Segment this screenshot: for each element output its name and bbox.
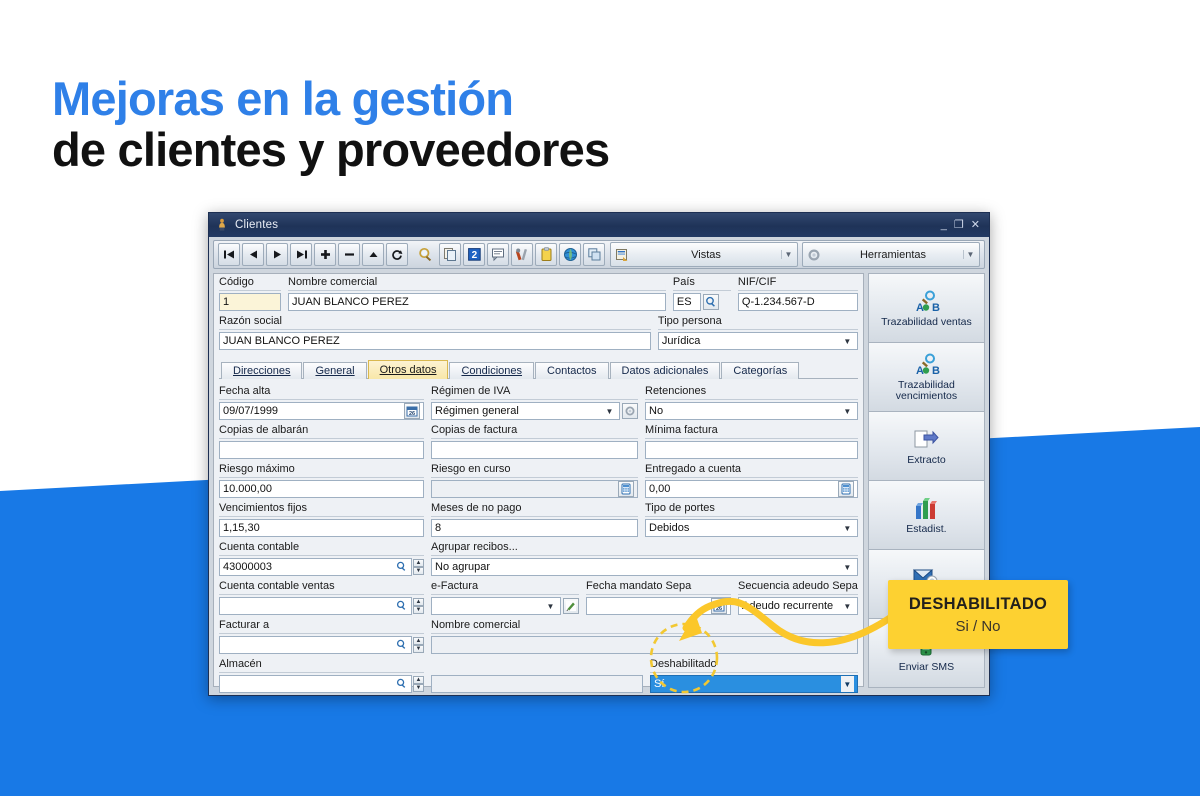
tab-condiciones-label: Condiciones (461, 365, 522, 377)
tools-icon[interactable] (511, 243, 533, 266)
field-meses-no-pago: Meses de no pago 8 (431, 502, 638, 537)
razon-social-label: Razón social (219, 315, 651, 330)
tab-condiciones[interactable]: Condiciones (449, 362, 534, 379)
copy-icon[interactable] (439, 243, 461, 266)
field-entregado-a-cuenta: Entregado a cuenta 0,00 (645, 463, 858, 498)
secuencia-adeudo-sepa-chevron-down-icon[interactable]: ▼ (841, 602, 854, 611)
tipo-portes-select[interactable]: Debidos ▼ (645, 519, 858, 537)
codigo-label: Código (219, 276, 281, 291)
stepper-down-icon[interactable]: ▼ (413, 567, 424, 575)
sidebar-item-trazabilidad-ventas[interactable]: A B Trazabilidad ventas (868, 273, 985, 343)
header-row-2: Razón social JUAN BLANCO PEREZ Tipo pers… (219, 315, 858, 354)
almacen-search-icon[interactable] (395, 678, 408, 691)
tab-general[interactable]: General (303, 362, 366, 379)
pais-label: País (673, 276, 731, 291)
client-form-panel: Código 1 Nombre comercial JUAN BLANCO PE… (213, 273, 864, 687)
fecha-alta-label: Fecha alta (219, 385, 424, 400)
person-icon (215, 218, 229, 232)
cuenta-contable-stepper[interactable]: ▲ ▼ (413, 559, 424, 575)
field-copias-albaran: Copias de albarán (219, 424, 424, 459)
regimen-iva-value: Régimen general (435, 405, 603, 417)
svg-text:A: A (916, 302, 924, 314)
svg-text:A: A (916, 365, 924, 377)
tab-direcciones-label: Direcciones (233, 365, 290, 377)
pais-value: ES (677, 296, 697, 308)
deshabilitado-callout: DESHABILITADO Si / No (888, 580, 1068, 649)
almacen-input[interactable] (219, 675, 412, 693)
refresh-record-button[interactable] (386, 243, 408, 266)
add-record-button[interactable] (314, 243, 336, 266)
field-cuenta-contable-ventas: Cuenta contable ventas ▲ ▼ (219, 580, 424, 615)
header-row-1: Código 1 Nombre comercial JUAN BLANCO PE… (219, 276, 858, 315)
cuenta-contable-ventas-input[interactable] (219, 597, 412, 615)
tab-general-label: General (315, 365, 354, 377)
od-row-4: Vencimientos fijos 1,15,30 Meses de no p… (219, 502, 858, 541)
entregado-a-cuenta-label: Entregado a cuenta (645, 463, 858, 478)
agrupar-recibos-select[interactable]: No agrupar ▼ (431, 558, 858, 576)
svg-text:2: 2 (471, 250, 477, 261)
sidebar-item-label: Trazabilidad ventas (879, 317, 974, 328)
herramientas-button[interactable]: Herramientas ▼ (802, 242, 980, 267)
retenciones-select[interactable]: No ▼ (645, 402, 858, 420)
regimen-iva-chevron-down-icon[interactable]: ▼ (603, 407, 616, 416)
field-regimen-iva: Régimen de IVA Régimen general ▼ (431, 385, 638, 420)
tab-contactos[interactable]: Contactos (535, 362, 609, 379)
regimen-iva-select[interactable]: Régimen general ▼ (431, 402, 620, 420)
nombre-comercial-input[interactable]: JUAN BLANCO PEREZ (288, 293, 666, 311)
cuenta-contable-ventas-label: Cuenta contable ventas (219, 580, 424, 595)
nombre-comercial-2-label: Nombre comercial (431, 619, 858, 634)
minima-factura-label: Mínima factura (645, 424, 858, 439)
next-record-button[interactable] (266, 243, 288, 266)
od-row-2: Copias de albarán Copias de factura Míni… (219, 424, 858, 463)
field-vencimientos-fijos: Vencimientos fijos 1,15,30 (219, 502, 424, 537)
callout-title: DESHABILITADO (909, 595, 1047, 614)
e-factura-chevron-down-icon[interactable]: ▼ (544, 602, 557, 611)
globe-icon[interactable] (559, 243, 581, 266)
stepper-up-icon[interactable]: ▲ (413, 637, 424, 645)
regimen-iva-settings-icon[interactable] (622, 403, 638, 419)
notes-icon[interactable] (487, 243, 509, 266)
od-row-8: Almacén ▲ ▼ (219, 658, 858, 697)
secuencia-adeudo-sepa-select[interactable]: Adeudo recurrente ▼ (738, 597, 858, 615)
riesgo-maximo-input[interactable]: 10.000,00 (219, 480, 424, 498)
almacen-label: Almacén (219, 658, 424, 673)
deshabilitado-label: Deshabilitado (650, 658, 858, 673)
cuenta-contable-input[interactable]: 43000003 (219, 558, 412, 576)
field-copias-factura: Copias de factura (431, 424, 638, 459)
stepper-down-icon[interactable]: ▼ (413, 684, 424, 692)
secuencia-adeudo-sepa-value: Adeudo recurrente (742, 600, 841, 612)
spacer-input (431, 675, 643, 693)
cuenta-contable-ventas-stepper[interactable]: ▲ ▼ (413, 598, 424, 614)
riesgo-en-curso-input[interactable] (431, 480, 638, 498)
minima-factura-input[interactable] (645, 441, 858, 459)
sidebar-item-trazabilidad-vencimientos[interactable]: A B Trazabilidad vencimientos (868, 342, 985, 412)
deshabilitado-chevron-down-icon[interactable]: ▼ (841, 676, 854, 692)
sidebar-item-label: Estadist. (904, 524, 948, 535)
agrupar-recibos-value: No agrupar (435, 561, 841, 573)
nombre-comercial-2-input[interactable] (431, 636, 858, 654)
stepper-up-icon[interactable]: ▲ (413, 598, 424, 606)
svg-text:B: B (932, 302, 940, 314)
vistas-label: Vistas (631, 249, 781, 261)
field-minima-factura: Mínima factura (645, 424, 858, 459)
od-row-7: Facturar a ▲ ▼ (219, 619, 858, 658)
copias-albaran-label: Copias de albarán (219, 424, 424, 439)
delete-record-button[interactable] (338, 243, 360, 266)
svg-text:26: 26 (409, 411, 415, 417)
field-fecha-mandato-sepa: Fecha mandato Sepa 26 (586, 580, 731, 615)
page-headline: Mejoras en la gestión de clientes y prov… (52, 74, 609, 175)
calendar-icon[interactable]: 26 (404, 403, 420, 419)
codigo-input[interactable]: 1 (219, 293, 281, 311)
riesgo-en-curso-label: Riesgo en curso (431, 463, 638, 478)
retenciones-value: No (649, 405, 841, 417)
field-tipo-portes: Tipo de portes Debidos ▼ (645, 502, 858, 537)
cuenta-contable-value: 43000003 (223, 561, 395, 573)
edit-record-button[interactable] (362, 243, 384, 266)
herramientas-icon (805, 248, 823, 262)
almacen-stepper[interactable]: ▲ ▼ (413, 676, 424, 692)
field-cuenta-contable: Cuenta contable 43000003 ▲ ▼ (219, 541, 424, 576)
tab-otros-datos[interactable]: Otros datos (368, 360, 449, 379)
fecha-mandato-sepa-input[interactable]: 26 (586, 597, 731, 615)
facturar-a-stepper[interactable]: ▲ ▼ (413, 637, 424, 653)
vistas-button[interactable]: Vistas ▼ (610, 242, 798, 267)
field-almacen: Almacén ▲ ▼ (219, 658, 424, 693)
field-tipo-persona: Tipo persona Jurídica ▼ (658, 315, 858, 350)
tab-datos-adicionales[interactable]: Datos adicionales (610, 362, 721, 379)
nif-cif-label: NIF/CIF (738, 276, 858, 291)
tab-contactos-label: Contactos (547, 365, 597, 377)
field-codigo: Código 1 (219, 276, 281, 311)
pais-search-icon[interactable] (703, 294, 719, 310)
razon-social-input[interactable]: JUAN BLANCO PEREZ (219, 332, 651, 350)
vencimientos-fijos-value: 1,15,30 (223, 522, 420, 534)
form-tabs: Direcciones General Otros datos Condicio… (221, 360, 858, 379)
agrupar-recibos-label: Agrupar recibos... (431, 541, 858, 556)
tipo-persona-select[interactable]: Jurídica ▼ (658, 332, 858, 350)
field-nombre-comercial-2: Nombre comercial (431, 619, 858, 654)
tab-direcciones[interactable]: Direcciones (221, 362, 302, 379)
retenciones-label: Retenciones (645, 385, 858, 400)
vencimientos-fijos-label: Vencimientos fijos (219, 502, 424, 517)
documents-icon[interactable]: 2 (463, 243, 485, 266)
sidebar-item-label: Trazabilidad vencimientos (871, 380, 982, 402)
od-row-6: Cuenta contable ventas ▲ ▼ (219, 580, 858, 619)
copias-factura-label: Copias de factura (431, 424, 638, 439)
razon-social-value: JUAN BLANCO PEREZ (223, 335, 647, 347)
entregado-calculator-icon[interactable] (838, 481, 854, 497)
field-spacer (431, 658, 643, 693)
otros-datos-pane: Fecha alta 09/07/1999 26 Régimen de IVA (219, 378, 858, 697)
fecha-alta-input[interactable]: 09/07/1999 26 (219, 402, 424, 420)
riesgo-maximo-label: Riesgo máximo (219, 463, 424, 478)
cuenta-contable-label: Cuenta contable (219, 541, 424, 556)
field-razon-social: Razón social JUAN BLANCO PEREZ (219, 315, 651, 350)
vistas-chevron-down-icon[interactable]: ▼ (781, 250, 795, 259)
tab-categorias-label: Categorías (733, 365, 787, 377)
tipo-persona-label: Tipo persona (658, 315, 858, 330)
vistas-icon (613, 248, 631, 262)
field-fecha-alta: Fecha alta 09/07/1999 26 (219, 385, 424, 420)
sidebar-item-label: Enviar SMS (897, 662, 956, 673)
traceability-icon: A B (911, 289, 941, 315)
cuenta-contable-search-icon[interactable] (395, 561, 408, 574)
tipo-portes-chevron-down-icon[interactable]: ▼ (841, 524, 854, 533)
sidebar-item-label: Extracto (905, 455, 948, 466)
regimen-iva-label: Régimen de IVA (431, 385, 638, 400)
extract-icon (913, 427, 939, 453)
retenciones-chevron-down-icon[interactable]: ▼ (841, 407, 854, 416)
svg-text:B: B (932, 365, 940, 377)
entregado-a-cuenta-value: 0,00 (649, 483, 836, 495)
copias-albaran-input[interactable] (219, 441, 424, 459)
tab-otros-datos-label: Otros datos (380, 364, 437, 376)
pais-input[interactable]: ES (673, 293, 701, 311)
e-factura-label: e-Factura (431, 580, 579, 595)
field-pais: País ES (673, 276, 731, 311)
od-row-1: Fecha alta 09/07/1999 26 Régimen de IVA (219, 385, 858, 424)
field-facturar-a: Facturar a ▲ ▼ (219, 619, 424, 654)
first-record-button[interactable] (218, 243, 240, 266)
window-titlebar: Clientes _ ❐ ✕ (209, 213, 989, 237)
deshabilitado-select[interactable]: Sí ▼ (650, 675, 858, 693)
field-agrupar-recibos: Agrupar recibos... No agrupar ▼ (431, 541, 858, 576)
field-retenciones: Retenciones No ▼ (645, 385, 858, 420)
field-secuencia-adeudo-sepa: Secuencia adeudo Sepa Adeudo recurrente … (738, 580, 858, 615)
statistics-icon (913, 496, 939, 522)
facturar-a-input[interactable] (219, 636, 412, 654)
main-toolbar: 2 Vistas ▼ Herramientas (213, 240, 985, 269)
field-deshabilitado: Deshabilitado Sí ▼ (650, 658, 858, 693)
copias-factura-input[interactable] (431, 441, 638, 459)
fecha-alta-value: 09/07/1999 (223, 405, 402, 417)
tab-datos-adicionales-label: Datos adicionales (622, 365, 709, 377)
stepper-up-icon[interactable]: ▲ (413, 676, 424, 684)
od-row-5: Cuenta contable 43000003 ▲ ▼ (219, 541, 858, 580)
e-factura-edit-icon[interactable] (563, 598, 579, 614)
tab-categorias[interactable]: Categorías (721, 362, 799, 379)
herramientas-chevron-down-icon[interactable]: ▼ (963, 250, 977, 259)
svg-text:26: 26 (716, 606, 722, 612)
previous-record-button[interactable] (242, 243, 264, 266)
riesgo-maximo-value: 10.000,00 (223, 483, 420, 495)
cuenta-contable-ventas-search-icon[interactable] (395, 600, 408, 613)
nif-cif-input[interactable]: Q-1.234.567-D (738, 293, 858, 311)
od-row-3: Riesgo máximo 10.000,00 Riesgo en curso (219, 463, 858, 502)
tipo-persona-value: Jurídica (662, 335, 841, 347)
sidebar-item-extracto[interactable]: Extracto (868, 411, 985, 481)
window-title: Clientes (235, 219, 278, 231)
herramientas-label: Herramientas (823, 249, 963, 261)
close-button[interactable]: ✕ (971, 220, 980, 231)
clientes-window: Clientes _ ❐ ✕ (208, 212, 990, 696)
minimize-button[interactable]: _ (941, 220, 947, 231)
entregado-a-cuenta-input[interactable]: 0,00 (645, 480, 858, 498)
last-record-button[interactable] (290, 243, 312, 266)
field-e-factura: e-Factura ▼ (431, 580, 579, 615)
field-nif-cif: NIF/CIF Q-1.234.567-D (738, 276, 858, 311)
field-riesgo-maximo: Riesgo máximo 10.000,00 (219, 463, 424, 498)
deshabilitado-value: Sí (654, 678, 841, 690)
headline-line-2: de clientes y proveedores (52, 125, 609, 174)
meses-no-pago-value: 8 (435, 522, 634, 534)
facturar-a-search-icon[interactable] (395, 639, 408, 652)
nombre-comercial-label: Nombre comercial (288, 276, 666, 291)
field-riesgo-en-curso: Riesgo en curso (431, 463, 638, 498)
nif-cif-value: Q-1.234.567-D (742, 296, 854, 308)
nombre-comercial-value: JUAN BLANCO PEREZ (292, 296, 662, 308)
maximize-button[interactable]: ❐ (954, 220, 964, 231)
stepper-down-icon[interactable]: ▼ (413, 606, 424, 614)
duplicate-icon[interactable] (583, 243, 605, 266)
e-factura-select[interactable]: ▼ (431, 597, 561, 615)
traceability-icon: A B (911, 352, 941, 378)
vencimientos-fijos-input[interactable]: 1,15,30 (219, 519, 424, 537)
clipboard-icon[interactable] (535, 243, 557, 266)
tipo-portes-label: Tipo de portes (645, 502, 858, 517)
riesgo-calculator-icon[interactable] (618, 481, 634, 497)
fecha-mandato-sepa-label: Fecha mandato Sepa (586, 580, 731, 595)
field-nombre-comercial: Nombre comercial JUAN BLANCO PEREZ (288, 276, 666, 311)
tipo-portes-value: Debidos (649, 522, 841, 534)
codigo-value: 1 (223, 296, 277, 308)
secuencia-adeudo-sepa-label: Secuencia adeudo Sepa (738, 580, 858, 595)
stepper-up-icon[interactable]: ▲ (413, 559, 424, 567)
facturar-a-label: Facturar a (219, 619, 424, 634)
headline-line-1: Mejoras en la gestión (52, 74, 609, 123)
sidebar-item-estadistica[interactable]: Estadist. (868, 480, 985, 550)
sepa-calendar-icon[interactable]: 26 (711, 598, 727, 614)
search-icon[interactable] (415, 243, 437, 266)
meses-no-pago-input[interactable]: 8 (431, 519, 638, 537)
tipo-persona-chevron-down-icon[interactable]: ▼ (841, 337, 854, 346)
meses-no-pago-label: Meses de no pago (431, 502, 638, 517)
callout-subtitle: Si / No (955, 618, 1000, 635)
agrupar-recibos-chevron-down-icon[interactable]: ▼ (841, 563, 854, 572)
stepper-down-icon[interactable]: ▼ (413, 645, 424, 653)
